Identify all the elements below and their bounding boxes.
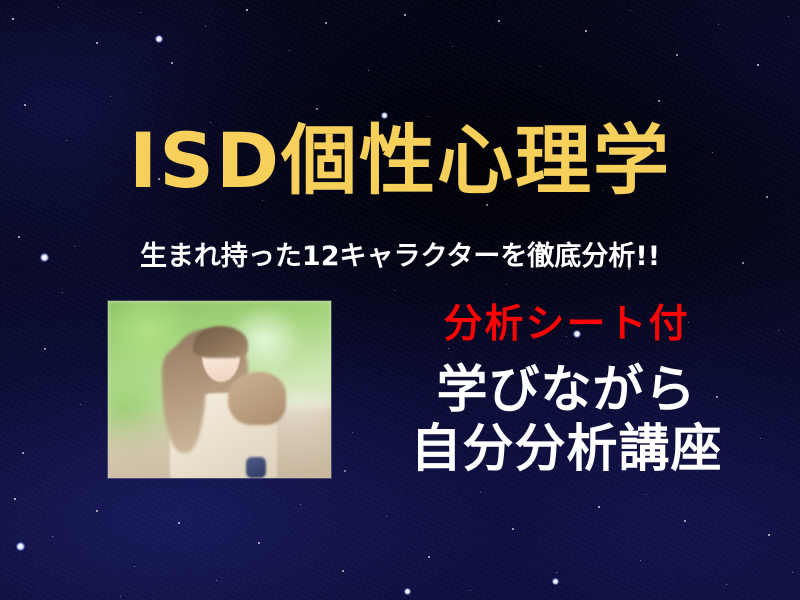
photo-bangs: [193, 326, 249, 358]
photo-raised-arm: [228, 372, 286, 425]
headline-line-1: 学びながら: [333, 363, 800, 419]
instructor-photo: [108, 301, 331, 478]
poster-subtitle: 生まれ持った12キャラクターを徹底分析!!: [0, 241, 800, 273]
bright-star-bottom-left: [16, 542, 25, 551]
analysis-sheet-badge: 分析シート付: [333, 303, 800, 347]
photo-handbag: [246, 457, 266, 478]
bright-star-bottom-mid: [404, 588, 411, 595]
headline-line-2: 自分分析講座: [333, 422, 800, 478]
star-layer: [0, 0, 800, 600]
bright-star-bottom-right: [552, 578, 559, 585]
bright-star-upper-right: [155, 35, 163, 43]
poster-title: ISD個性心理学: [0, 118, 800, 204]
poster-canvas: ISD個性心理学 生まれ持った12キャラクターを徹底分析!! 分析シート付 学び…: [0, 0, 800, 600]
